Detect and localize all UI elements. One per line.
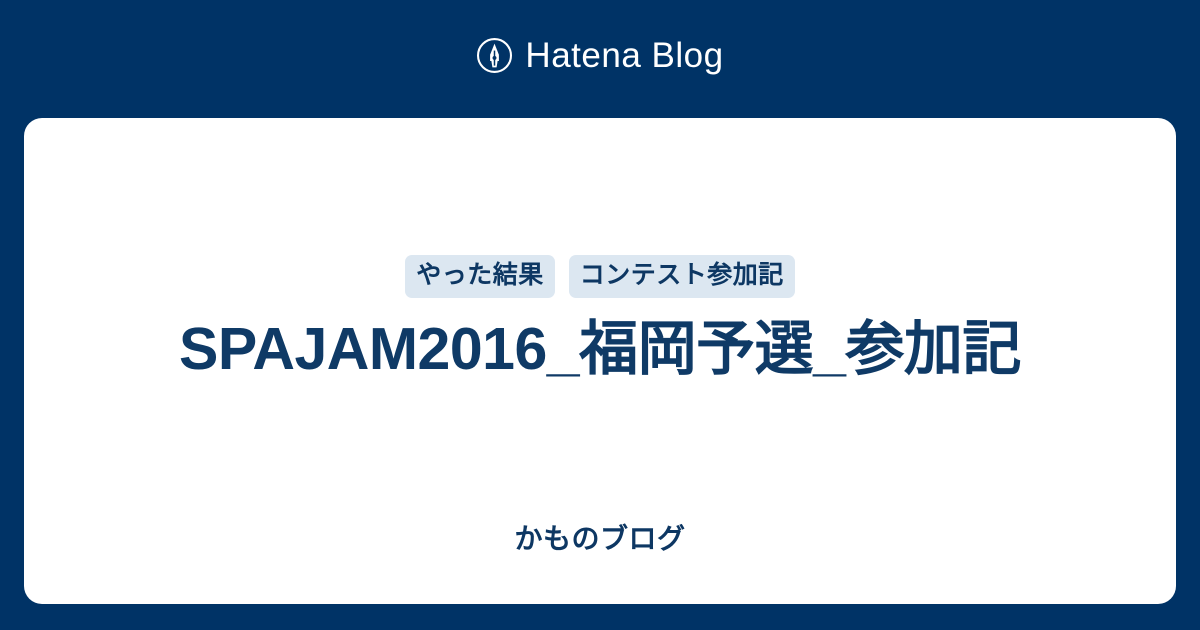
blog-name-label: かものブログ (514, 521, 685, 557)
entry-title: SPAJAM2016_福岡予選_参加記 (179, 314, 1021, 386)
category-tag-list: やった結果 コンテスト参加記 (405, 255, 795, 298)
category-tag[interactable]: やった結果 (405, 255, 555, 298)
hatena-blog-header: Hatena Blog (0, 0, 1200, 118)
hatena-blog-logo (476, 37, 513, 74)
fountain-pen-nib-icon (476, 37, 513, 74)
entry-card: やった結果 コンテスト参加記 SPAJAM2016_福岡予選_参加記 かものブロ… (24, 118, 1176, 604)
category-tag[interactable]: コンテスト参加記 (569, 255, 795, 298)
brand-name-label: Hatena Blog (525, 38, 723, 73)
